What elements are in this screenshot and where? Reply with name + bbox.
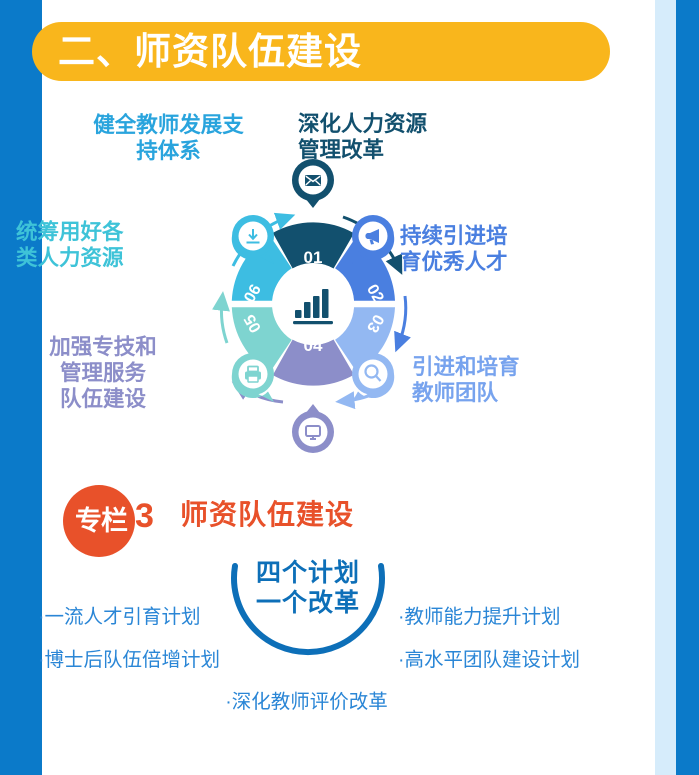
arrow-02-to-03 bbox=[399, 296, 406, 343]
wheel-label-top-left: 健全教师发展支 持体系 bbox=[61, 112, 276, 164]
column-badge-title: 师资队伍建设 bbox=[180, 501, 354, 529]
wheel-label-mid-left-line2: 类人力资源 bbox=[16, 245, 196, 271]
marker-pin-03[interactable] bbox=[352, 353, 394, 402]
wheel-label-bottom-right: 引进和培育 教师团队 bbox=[412, 354, 627, 406]
plan-block: 四个计划 一个改革 ·一流人才引育计划 ·博士后队伍倍增计划 ·教师能力提升计划… bbox=[0, 552, 613, 712]
envelope-icon bbox=[305, 175, 321, 186]
wheel-label-top-left-line1: 健全教师发展支 bbox=[61, 112, 276, 138]
plan-center-line1: 四个计划 bbox=[228, 559, 388, 589]
wheel-label-mid-right-line2: 育优秀人才 bbox=[400, 249, 615, 275]
plan-item-left-1: ·一流人才引育计划 bbox=[38, 608, 201, 628]
column-badge-row: 专栏 3 师资队伍建设 bbox=[0, 485, 613, 557]
plan-center-line2: 一个改革 bbox=[228, 589, 388, 619]
wheel-label-bottom-left-line1: 加强专技和 bbox=[10, 334, 196, 360]
plan-item-center: ·深化教师评价改革 bbox=[0, 693, 613, 713]
wheel-label-bottom-right-line2: 教师团队 bbox=[412, 380, 627, 406]
wheel-label-mid-right: 持续引进培 育优秀人才 bbox=[400, 223, 615, 275]
plan-item-right-1: ·教师能力提升计划 bbox=[398, 608, 561, 628]
plan-item-left-2: ·博士后队伍倍增计划 bbox=[38, 651, 220, 671]
plan-item-right-2: ·高水平团队建设计划 bbox=[398, 651, 580, 671]
wheel-label-mid-left: 统筹用好各 类人力资源 bbox=[16, 219, 196, 271]
wheel-label-mid-left-line1: 统筹用好各 bbox=[16, 219, 196, 245]
column-badge-number: 3 bbox=[135, 499, 154, 533]
right-pale-blue-rail bbox=[655, 0, 676, 775]
wheel-label-bottom-left: 加强专技和 管理服务 队伍建设 bbox=[10, 334, 196, 413]
infographic-page: 二、师资队伍建设 bbox=[0, 0, 699, 775]
marker-pin-01[interactable] bbox=[292, 159, 334, 208]
right-blue-rail bbox=[676, 0, 699, 775]
column-badge-label: 专栏 bbox=[75, 508, 127, 535]
plan-center-text: 四个计划 一个改革 bbox=[228, 559, 388, 618]
cycle-diagram: 01 02 03 04 05 06 bbox=[0, 96, 613, 468]
marker-pin-02[interactable] bbox=[352, 215, 394, 264]
wheel-label-top-right: 深化人力资源 管理改革 bbox=[298, 111, 528, 163]
wheel-label-mid-right-line1: 持续引进培 bbox=[400, 223, 615, 249]
wheel-label-top-right-line2: 管理改革 bbox=[298, 137, 528, 163]
marker-pin-04[interactable] bbox=[292, 404, 334, 453]
wheel-label-bottom-left-line2: 管理服务 bbox=[10, 360, 196, 386]
wheel-label-bottom-right-line1: 引进和培育 bbox=[412, 354, 627, 380]
arrow-05-to-06 bbox=[221, 301, 227, 343]
column-badge-circle: 专栏 bbox=[63, 485, 135, 557]
wheel-label-top-left-line2: 持体系 bbox=[61, 138, 276, 164]
page-title: 二、师资队伍建设 bbox=[32, 33, 362, 70]
wheel-label-bottom-left-line3: 队伍建设 bbox=[10, 386, 196, 412]
marker-pin-05[interactable] bbox=[232, 353, 274, 402]
wheel-label-top-right-line1: 深化人力资源 bbox=[298, 111, 528, 137]
section-title-banner: 二、师资队伍建设 bbox=[32, 22, 610, 81]
